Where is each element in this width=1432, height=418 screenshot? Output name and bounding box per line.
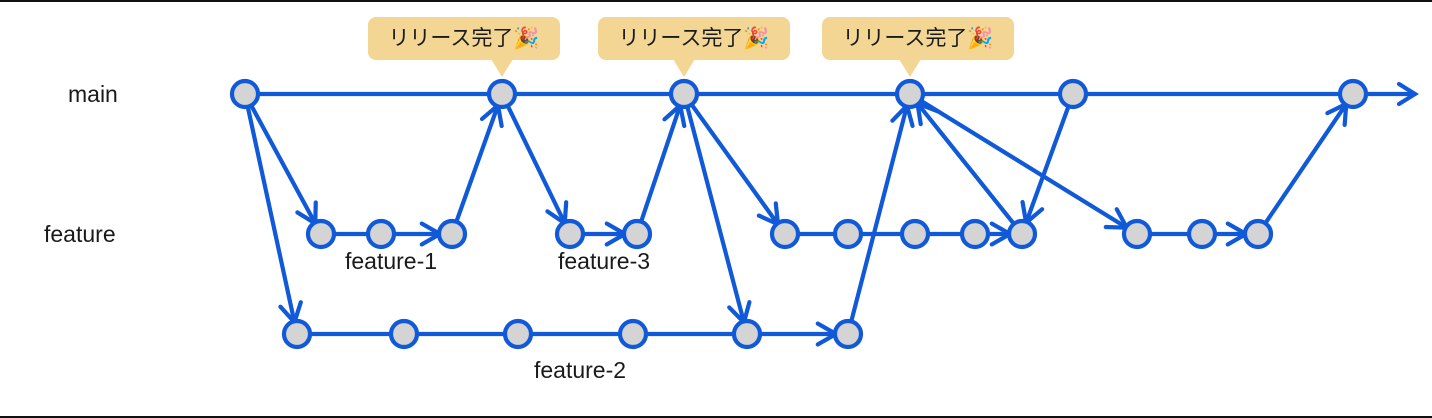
commit-edge xyxy=(848,94,913,334)
commit-edge xyxy=(502,94,570,234)
edge-line xyxy=(245,94,321,234)
diagram-canvas: リリース完了🎉リリース完了🎉リリース完了🎉 mainfeaturefeature… xyxy=(0,0,1432,418)
commit-node[interactable] xyxy=(1124,221,1150,247)
tooltip-label: リリース完了🎉 xyxy=(388,25,539,51)
commit-node[interactable] xyxy=(962,221,988,247)
commit-edge xyxy=(452,94,502,234)
commit-node[interactable] xyxy=(489,81,515,107)
node-layer xyxy=(232,81,1366,347)
commit-edge xyxy=(684,94,785,234)
commit-node[interactable] xyxy=(391,321,417,347)
commit-node[interactable] xyxy=(902,221,928,247)
commit-node[interactable] xyxy=(734,321,760,347)
edge-line xyxy=(684,94,747,334)
commit-node[interactable] xyxy=(1009,221,1035,247)
tooltip-pointer xyxy=(491,59,513,77)
release-tooltip[interactable]: リリース完了🎉 xyxy=(598,17,790,77)
edge-line xyxy=(245,94,297,334)
commit-edge xyxy=(910,94,1022,234)
commit-node[interactable] xyxy=(232,81,258,107)
commit-node[interactable] xyxy=(368,221,394,247)
commit-node[interactable] xyxy=(557,221,583,247)
commit-node[interactable] xyxy=(284,321,310,347)
commit-edge xyxy=(1258,94,1353,234)
commit-edge xyxy=(245,94,301,334)
edge-line xyxy=(637,94,684,234)
commit-edge xyxy=(747,324,848,345)
commit-node[interactable] xyxy=(772,221,798,247)
commit-node[interactable] xyxy=(505,321,531,347)
branch-name-label: feature-2 xyxy=(534,357,626,383)
commit-edge xyxy=(637,94,684,234)
edge-line xyxy=(1258,94,1353,234)
commit-node[interactable] xyxy=(1340,81,1366,107)
commit-node[interactable] xyxy=(835,221,861,247)
commit-node[interactable] xyxy=(439,221,465,247)
tooltip-layer: リリース完了🎉リリース完了🎉リリース完了🎉 xyxy=(368,17,1014,77)
commit-edge xyxy=(245,94,321,234)
edge-line xyxy=(452,94,502,234)
git-branch-diagram: リリース完了🎉リリース完了🎉リリース完了🎉 mainfeaturefeature… xyxy=(0,2,1432,418)
commit-node[interactable] xyxy=(835,321,861,347)
tooltip-label: リリース完了🎉 xyxy=(618,25,769,51)
commit-node[interactable] xyxy=(1245,221,1271,247)
release-tooltip[interactable]: リリース完了🎉 xyxy=(368,17,560,77)
lane-label-main: main xyxy=(68,81,118,107)
commit-node[interactable] xyxy=(897,81,923,107)
commit-node[interactable] xyxy=(624,221,650,247)
tooltip-pointer xyxy=(673,59,695,77)
commit-node[interactable] xyxy=(308,221,334,247)
edge-line xyxy=(910,94,1022,234)
edge-layer xyxy=(245,84,1415,344)
edge-line xyxy=(502,94,570,234)
commit-node[interactable] xyxy=(671,81,697,107)
lane-label-feature: feature xyxy=(44,221,116,247)
branch-name-label: feature-3 xyxy=(558,248,650,274)
commit-edge xyxy=(1022,94,1073,234)
commit-node[interactable] xyxy=(620,321,646,347)
commit-node[interactable] xyxy=(1189,221,1215,247)
tooltip-pointer xyxy=(899,59,921,77)
branch-name-label: feature-1 xyxy=(345,248,437,274)
commit-node[interactable] xyxy=(1060,81,1086,107)
edge-line xyxy=(684,94,785,234)
tooltip-label: リリース完了🎉 xyxy=(842,25,993,51)
edge-line xyxy=(1022,94,1073,234)
release-tooltip[interactable]: リリース完了🎉 xyxy=(822,17,1014,77)
edge-line xyxy=(848,94,910,334)
commit-edge xyxy=(684,94,749,334)
